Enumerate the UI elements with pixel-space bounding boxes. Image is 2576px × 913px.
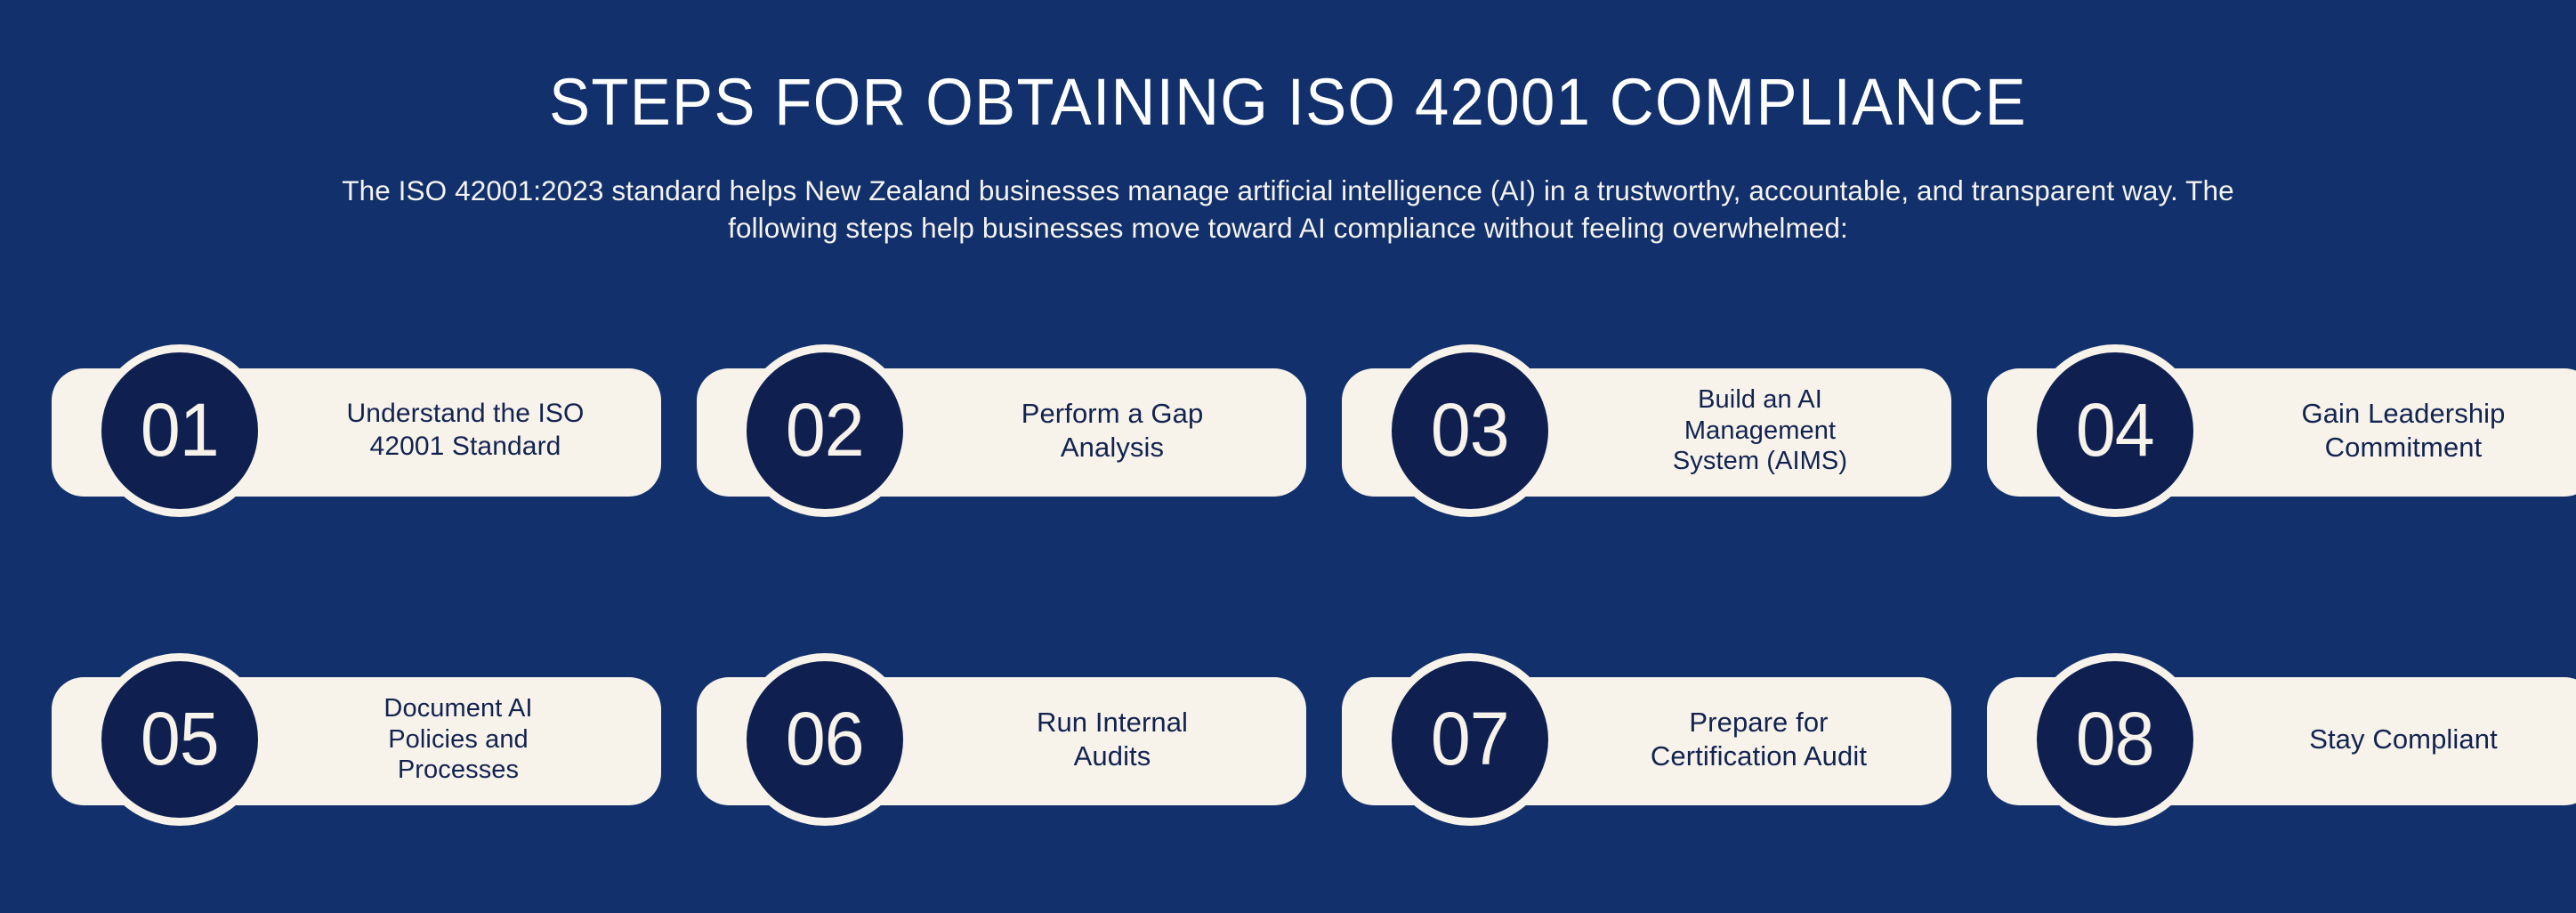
step-number: 01 bbox=[141, 392, 219, 467]
step-label: Prepare for Certification Audit bbox=[1566, 706, 1951, 773]
step-number: 05 bbox=[141, 701, 219, 776]
step-label: Run Internal Audits bbox=[930, 706, 1295, 773]
page-subtitle: The ISO 42001:2023 standard helps New Ze… bbox=[132, 173, 2445, 247]
step-number-badge: 08 bbox=[2029, 653, 2201, 826]
step-number-badge: 04 bbox=[2029, 344, 2201, 517]
step-label-line: Build an AI bbox=[1591, 384, 1929, 416]
step-label-line: Certification Audit bbox=[1566, 739, 1951, 773]
step-card-01[interactable]: 01 Understand the ISO 42001 Standard bbox=[52, 344, 661, 517]
page-title: STEPS FOR OBTAINING ISO 42001 COMPLIANCE bbox=[90, 69, 2485, 135]
step-label: Build an AI Management System (AIMS) bbox=[1591, 384, 1929, 477]
step-label-line: Stay Compliant bbox=[2217, 723, 2576, 756]
step-label: Document AI Policies and Processes bbox=[290, 693, 626, 786]
step-number: 06 bbox=[786, 701, 864, 776]
step-label-line: Run Internal bbox=[930, 706, 1295, 739]
steps-row-2: 05 Document AI Policies and Processes 06… bbox=[52, 653, 2525, 826]
step-label-line: Commitment bbox=[2217, 431, 2576, 465]
step-label-line: Processes bbox=[290, 755, 626, 786]
step-card-06[interactable]: 06 Run Internal Audits bbox=[697, 653, 1306, 826]
step-card-07[interactable]: 07 Prepare for Certification Audit bbox=[1342, 653, 1951, 826]
step-number-badge: 07 bbox=[1384, 653, 1556, 826]
steps-grid: 01 Understand the ISO 42001 Standard 02 … bbox=[52, 344, 2525, 826]
step-card-04[interactable]: 04 Gain Leadership Commitment bbox=[1987, 344, 2576, 517]
step-label: Understand the ISO 42001 Standard bbox=[274, 398, 657, 463]
step-number-badge: 01 bbox=[93, 344, 266, 517]
step-label-line: Prepare for bbox=[1566, 706, 1951, 739]
step-number: 03 bbox=[1431, 392, 1509, 467]
step-card-08[interactable]: 08 Stay Compliant bbox=[1987, 653, 2576, 826]
step-label-line: Audits bbox=[930, 739, 1295, 773]
steps-row-1: 01 Understand the ISO 42001 Standard 02 … bbox=[52, 344, 2525, 517]
step-number-badge: 06 bbox=[739, 653, 911, 826]
step-label: Perform a Gap Analysis bbox=[930, 397, 1295, 465]
step-number: 02 bbox=[786, 392, 864, 467]
header: STEPS FOR OBTAINING ISO 42001 COMPLIANCE… bbox=[0, 0, 2576, 247]
step-label: Stay Compliant bbox=[2217, 723, 2576, 756]
infographic-root: STEPS FOR OBTAINING ISO 42001 COMPLIANCE… bbox=[0, 0, 2576, 913]
step-label-line: Document AI bbox=[290, 693, 626, 724]
step-label-line: Understand the ISO bbox=[274, 398, 657, 431]
step-number: 04 bbox=[2076, 392, 2154, 467]
step-label-line: Management bbox=[1591, 416, 1929, 447]
step-label-line: 42001 Standard bbox=[274, 431, 657, 464]
step-label-line: Gain Leadership bbox=[2217, 397, 2576, 431]
step-number-badge: 03 bbox=[1384, 344, 1556, 517]
step-card-03[interactable]: 03 Build an AI Management System (AIMS) bbox=[1342, 344, 1951, 517]
step-card-02[interactable]: 02 Perform a Gap Analysis bbox=[697, 344, 1306, 517]
step-number-badge: 02 bbox=[739, 344, 911, 517]
step-label-line: Perform a Gap bbox=[930, 397, 1295, 431]
step-label-line: Analysis bbox=[930, 431, 1295, 465]
step-label-line: Policies and bbox=[290, 724, 626, 755]
step-card-05[interactable]: 05 Document AI Policies and Processes bbox=[52, 653, 661, 826]
step-number-badge: 05 bbox=[93, 653, 266, 826]
step-number: 07 bbox=[1431, 701, 1509, 776]
step-label: Gain Leadership Commitment bbox=[2217, 397, 2576, 465]
step-number: 08 bbox=[2076, 701, 2154, 776]
step-label-line: System (AIMS) bbox=[1591, 446, 1929, 477]
